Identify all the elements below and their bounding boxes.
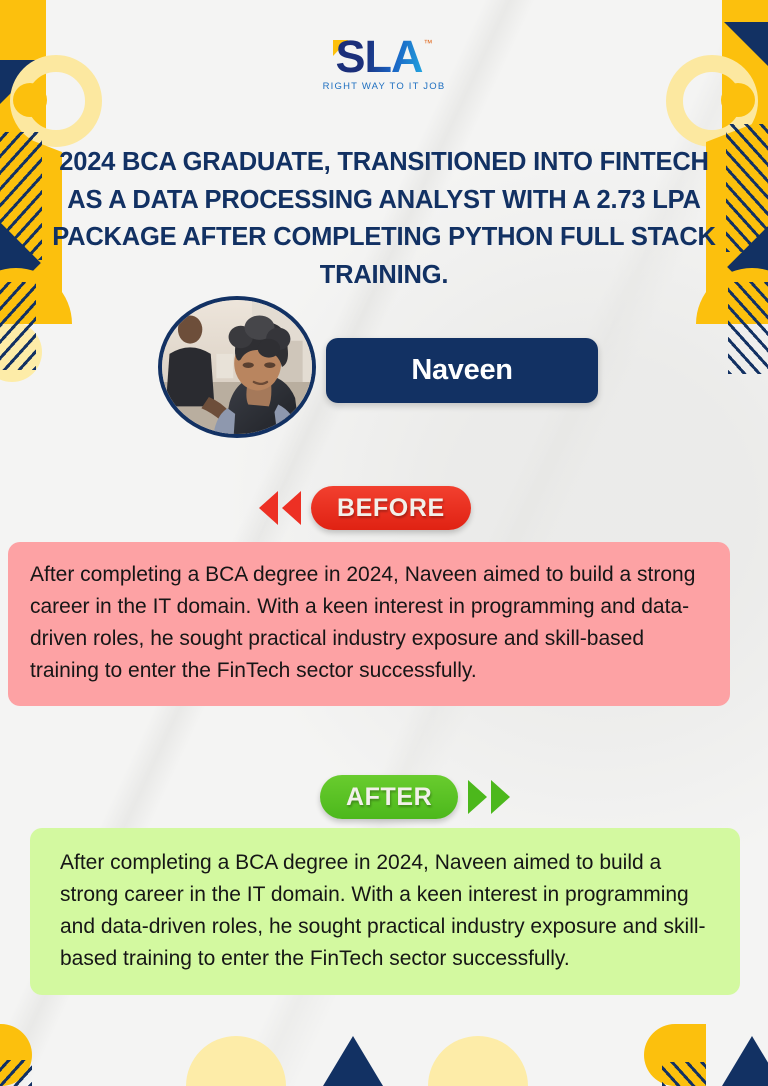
candidate-block: Naveen — [158, 296, 598, 438]
decor-navy-stripes-right — [726, 124, 768, 252]
avatar-photo-icon — [162, 300, 312, 434]
after-badge: AFTER — [320, 775, 458, 819]
decor-navy-stripes-bottom-right — [662, 1062, 706, 1086]
candidate-name: Naveen — [411, 354, 512, 387]
decor-pale-arch-bottom-2 — [428, 1036, 528, 1086]
decor-navy-triangle-bottom-right — [722, 1036, 768, 1086]
candidate-name-banner: Naveen — [326, 338, 598, 403]
before-arrows — [259, 491, 301, 525]
before-badge: BEFORE — [311, 486, 471, 530]
logo-wordmark: SLA — [336, 36, 423, 79]
decor-navy-diamond-left — [0, 219, 41, 307]
after-badge-row: AFTER — [320, 775, 510, 819]
decor-navy-stripes-bottom-left — [0, 1060, 32, 1086]
after-panel: After completing a BCA degree in 2024, N… — [30, 828, 740, 995]
decor-navy-stripes-left — [0, 132, 42, 260]
before-badge-label: BEFORE — [337, 494, 445, 523]
arrow-left-icon — [259, 491, 278, 525]
arrow-right-icon — [491, 780, 510, 814]
decor-soft-yellow-blob-left — [0, 322, 42, 382]
decor-navy-diamond-right — [727, 223, 768, 311]
avatar — [158, 296, 316, 438]
brand-logo: SLA ™ RIGHT WAY TO IT JOB — [0, 36, 768, 92]
decor-yellow-quarter-bottom-right — [644, 1024, 706, 1086]
before-badge-row: BEFORE — [259, 486, 471, 530]
page-title: 2024 BCA GRADUATE, TRANSITIONED INTO FIN… — [42, 144, 726, 295]
arrow-left-icon — [282, 491, 301, 525]
placement-poster: SLA ™ RIGHT WAY TO IT JOB 2024 BCA GRADU… — [0, 0, 768, 1086]
decor-pale-arch-bottom-1 — [186, 1036, 286, 1086]
decor-navy-stripes-left-2 — [0, 282, 36, 370]
logo-trademark-icon: ™ — [424, 38, 433, 48]
logo-mark: SLA ™ — [336, 36, 433, 79]
logo-tagline: RIGHT WAY TO IT JOB — [323, 81, 446, 92]
after-badge-label: AFTER — [346, 783, 432, 812]
decor-navy-triangle-bottom — [323, 1036, 383, 1086]
decor-yellow-quarter-bottom-left — [0, 1024, 32, 1086]
decor-navy-stripes-right-2 — [728, 282, 768, 374]
after-arrows — [468, 780, 510, 814]
before-panel: After completing a BCA degree in 2024, N… — [8, 542, 730, 706]
arrow-right-icon — [468, 780, 487, 814]
